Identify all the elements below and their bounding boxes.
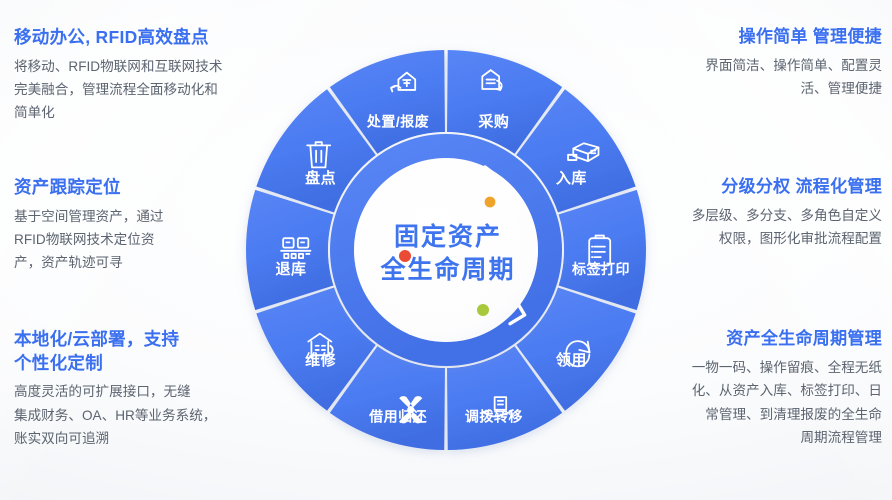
dot-green-icon xyxy=(477,304,489,316)
lifecycle-wheel: 固定资产全生命周期采购入库标签打印领用调拨转移借用归还维修退库盘点处置/报废 xyxy=(238,42,654,458)
segment-label: 采购 xyxy=(477,113,509,131)
segment-label: 盘点 xyxy=(305,169,336,187)
hub-line-1: 固定资产 xyxy=(394,222,502,251)
segment-label: 处置/报废 xyxy=(366,114,429,130)
segment-label: 退库 xyxy=(275,260,306,278)
wheel-svg: 固定资产全生命周期采购入库标签打印领用调拨转移借用归还维修退库盘点处置/报废 xyxy=(238,42,654,458)
hub-line-2: 全生命周期 xyxy=(379,255,515,284)
segment-label: 标签打印 xyxy=(571,261,630,277)
segment-label: 入库 xyxy=(556,169,587,187)
dot-orange-icon xyxy=(485,197,496,208)
